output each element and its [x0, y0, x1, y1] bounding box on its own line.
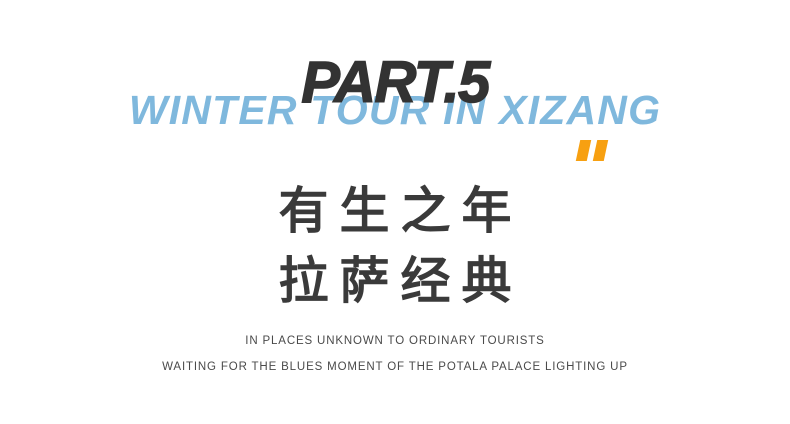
quotation-mark-bar-right: [593, 140, 608, 161]
headline-band: WINTER TOUR IN XIZANG PART.5: [0, 46, 790, 136]
headline-part-number: PART.5: [0, 54, 790, 112]
chinese-headline: 有生之年 拉萨经典: [0, 176, 790, 316]
quotation-mark-icon: [577, 140, 611, 161]
subtitle-line-1: IN PLACES UNKNOWN TO ORDINARY TOURISTS: [0, 328, 790, 354]
quotation-mark-bar-left: [576, 140, 591, 161]
chinese-headline-line-1: 有生之年: [0, 176, 790, 246]
title-slide: WINTER TOUR IN XIZANG PART.5 有生之年 拉萨经典 I…: [0, 0, 790, 424]
subtitle-line-2: WAITING FOR THE BLUES MOMENT OF THE POTA…: [0, 354, 790, 380]
subtitle-block: IN PLACES UNKNOWN TO ORDINARY TOURISTS W…: [0, 328, 790, 380]
chinese-headline-line-2: 拉萨经典: [0, 246, 790, 316]
